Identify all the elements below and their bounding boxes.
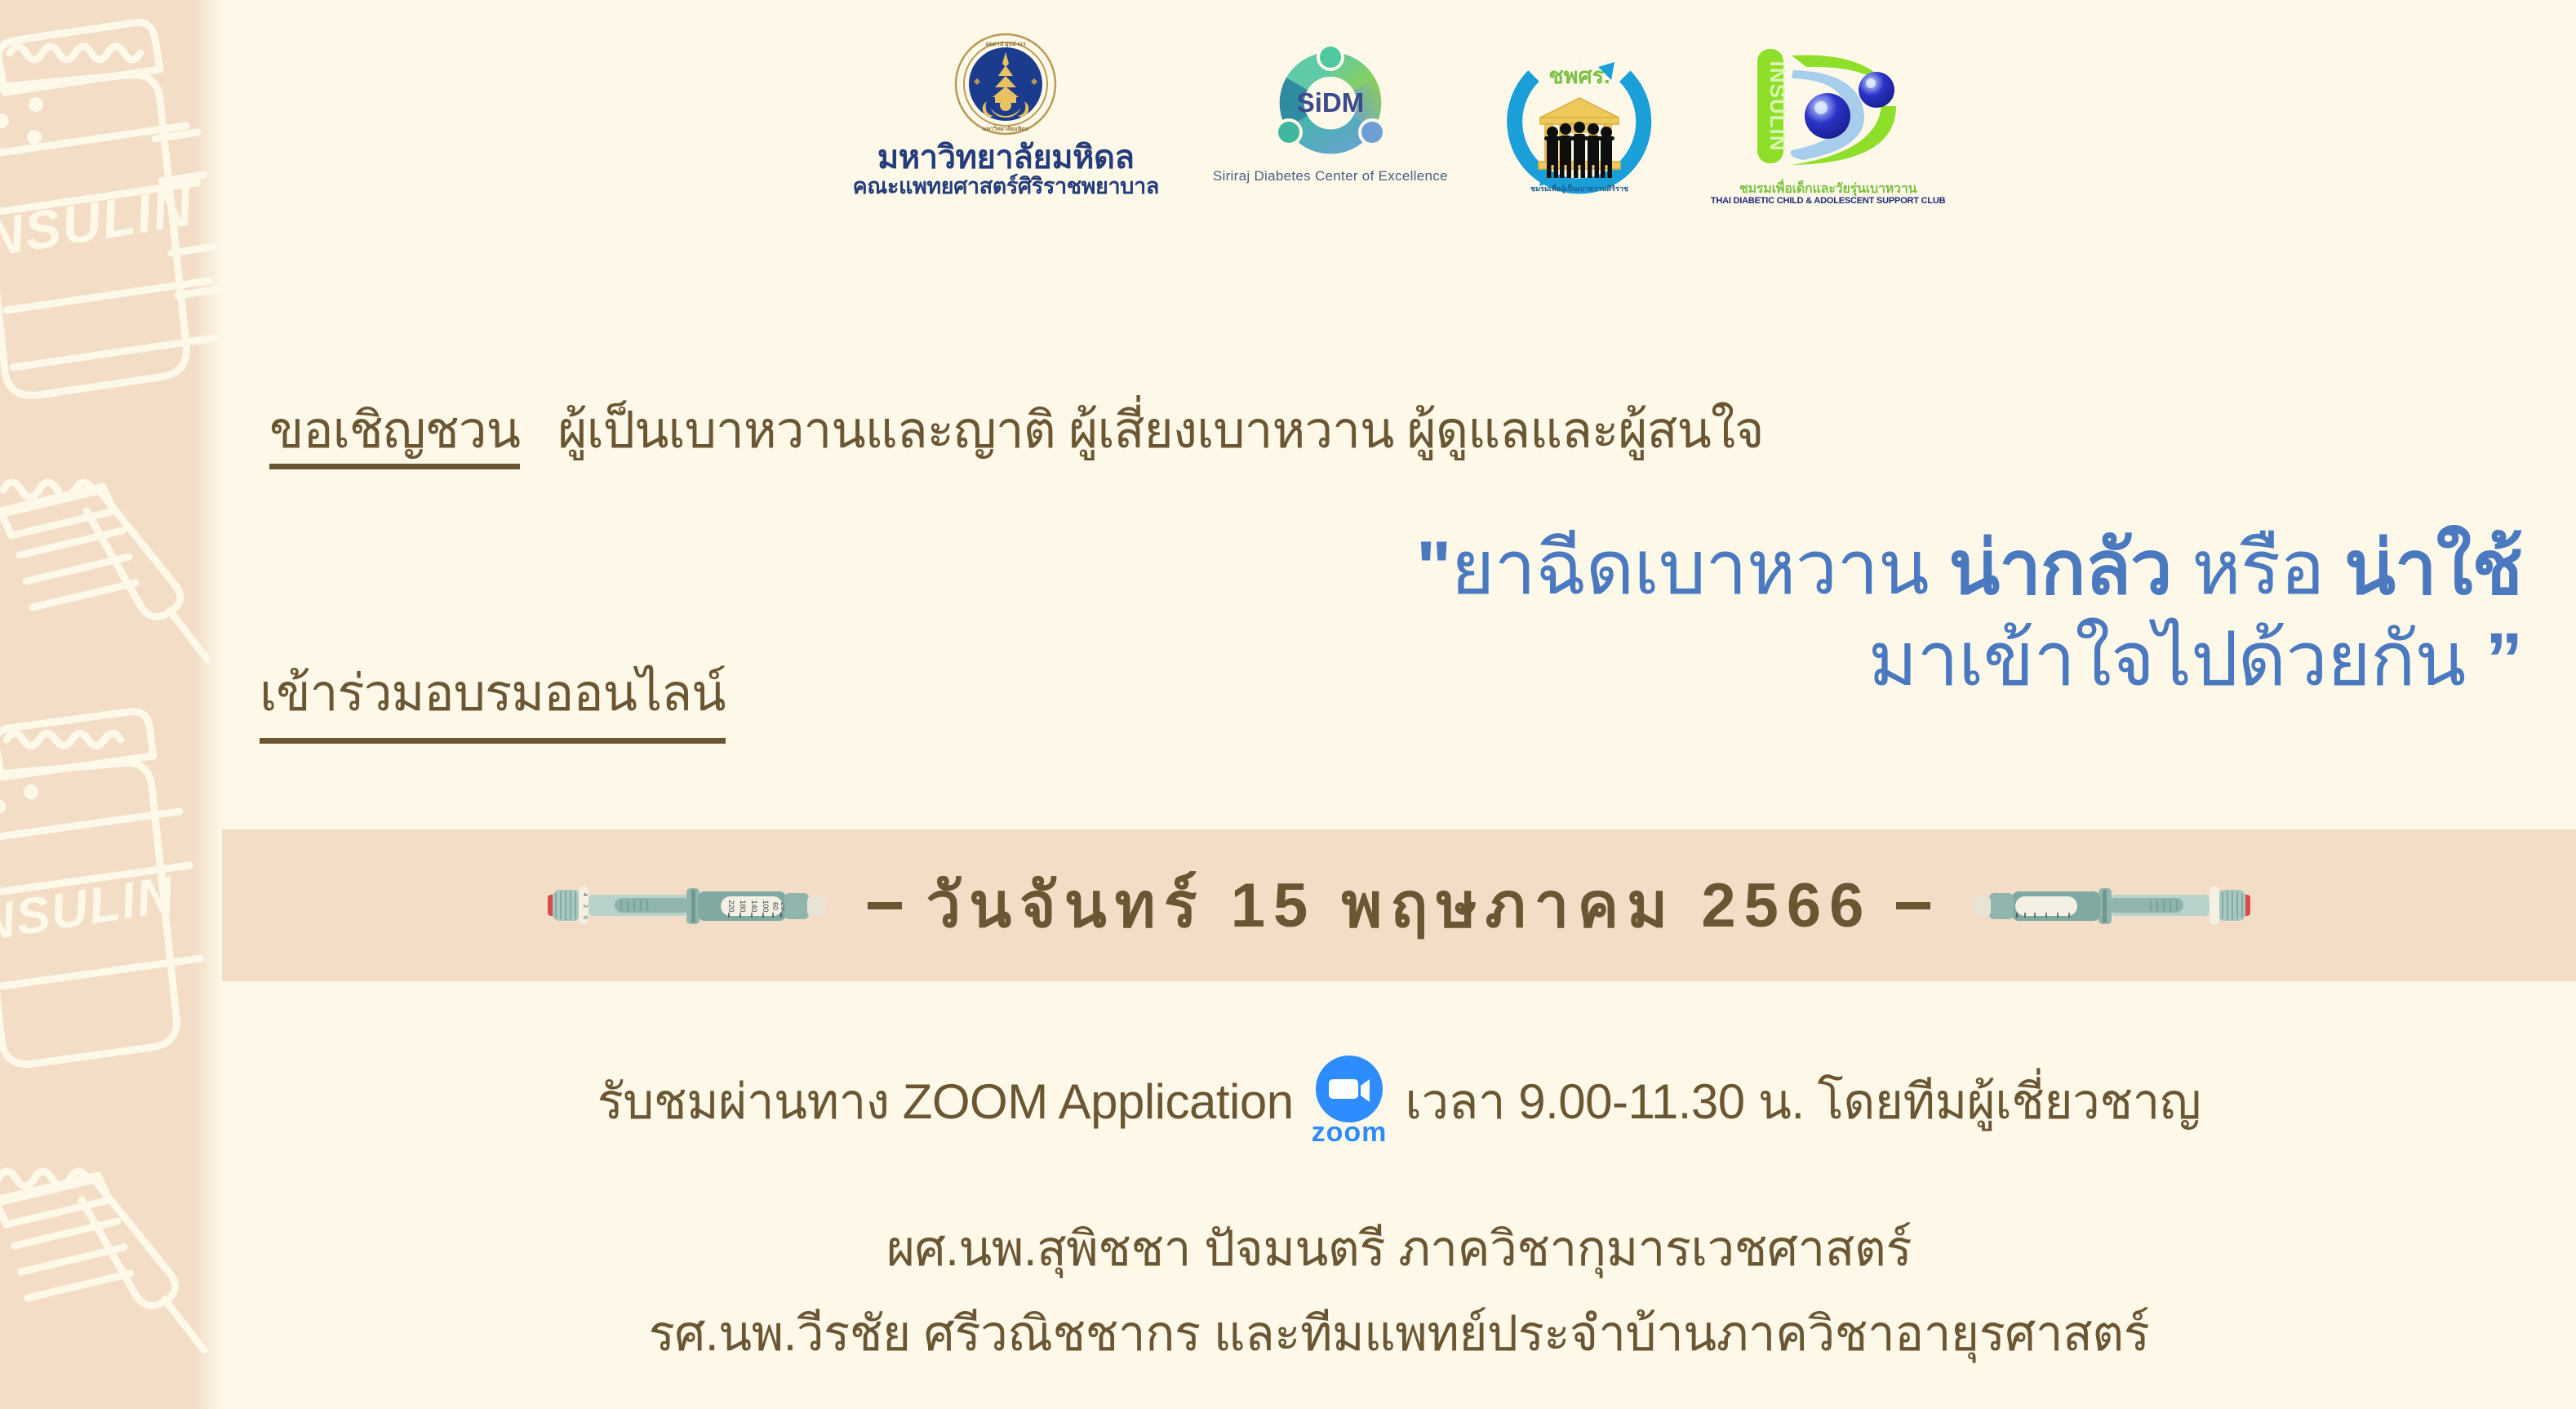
logo-tdcas: INSULIN ชมรมเพื่อเด็กและวัยรุ่นเบาหวาน T… xyxy=(1711,33,1946,207)
insulin-pen-icon-right xyxy=(1955,873,2347,937)
event-title-line1: "ยาฉีดเบาหวาน น่ากลัว หรือ น่าใช้ xyxy=(882,529,2522,609)
open-quote: " xyxy=(1416,527,1451,610)
svg-text:INSULIN: INSULIN xyxy=(0,866,179,955)
broadcast-time-suffix: เวลา 9.00-11.30 น. โดยทีมผู้เชี่ยวชาญ xyxy=(1405,1063,2201,1140)
sidm-caption: Siriraj Diabetes Center of Excellence xyxy=(1213,168,1448,184)
svg-text:4: 4 xyxy=(582,893,588,896)
speaker-line-2: รศ.นพ.วีรชัย ศรีวณิชชากร และทีมแพทย์ประจ… xyxy=(222,1295,2576,1372)
strip-fade-edge xyxy=(194,0,222,1409)
close-quote: ” xyxy=(2485,618,2522,701)
speaker-line-1: ผศ.นพ.สุพิชชา ปัจมนตรี ภาควิชากุมารเวชศา… xyxy=(222,1210,2576,1287)
logo-sidm: SiDM Siriraj Diabetes Center of Excellen… xyxy=(1213,33,1448,184)
logo-sdsc: ชพศร. ชมรมเพื่อผู้เป็นเบ xyxy=(1502,33,1657,199)
insulin-vial-doodle-top: INSULIN xyxy=(0,8,222,465)
syringe-doodle-upper xyxy=(0,457,222,694)
zoom-wordmark: zoom xyxy=(1312,1117,1388,1149)
broadcast-line: รับชมผ่านทาง ZOOM Application zoom เวลา … xyxy=(222,1055,2576,1149)
event-title-line2: มาเข้าใจไปด้วยกัน ” xyxy=(882,620,2522,700)
svg-text:2: 2 xyxy=(582,905,588,908)
title-text-1: ยาฉีดเบาหวาน xyxy=(1450,527,1948,610)
mahidol-caption-line2: คณะแพทยศาสตร์ศิริราชพยาบาล xyxy=(853,175,1159,198)
title-text-3: มาเข้าใจไปด้วยกัน xyxy=(1868,618,2485,701)
syringe-doodle-bottom xyxy=(0,1143,220,1404)
title-emphasis-1: น่ากลัว xyxy=(1948,527,2171,610)
tdcas-caption-thai: ชมรมเพื่อเด็กและวัยรุ่นเบาหวาน xyxy=(1739,183,1917,196)
join-online-label: เข้าร่วมอบรมออนไลน์ xyxy=(260,653,726,744)
banner-dash-right xyxy=(1896,902,1930,909)
zoom-camera-icon xyxy=(1315,1055,1383,1123)
tdcas-caption-english: THAI DIABETIC CHILD & ADOLESCENT SUPPORT… xyxy=(1711,196,1946,207)
insulin-vial-doodle-bottom: INSULIN xyxy=(0,702,222,1127)
svg-text:INSULIN: INSULIN xyxy=(1765,61,1790,152)
svg-text:ชพศร.: ชพศร. xyxy=(1548,64,1610,88)
svg-text:INSULIN: INSULIN xyxy=(0,176,198,271)
broadcast-prefix: รับชมผ่านทาง ZOOM Application xyxy=(597,1063,1294,1140)
zoom-logo: zoom xyxy=(1312,1055,1388,1149)
svg-text:มหาวิทยาลัยมหิดล: มหาวิทยาลัยมหิดล xyxy=(983,126,1028,132)
date-banner: 4 2 0 220 180 140 100 60 20 xyxy=(222,829,2576,981)
invitation-line: ขอเชิญชวน ผู้เป็นเบาหวานและญาติ ผู้เสี่ย… xyxy=(269,390,1764,470)
title-text-2: หรือ xyxy=(2172,527,2344,610)
svg-text:60: 60 xyxy=(771,902,779,910)
svg-text:อตฺตานํ อุปมํ กเร: อตฺตานํ อุปมํ กเร xyxy=(985,41,1026,47)
svg-text:SiDM: SiDM xyxy=(1297,87,1365,118)
tdcas-mark-icon: INSULIN xyxy=(1743,38,1914,183)
insulin-pen-icon-left: 4 2 0 220 180 140 100 60 20 xyxy=(451,873,843,937)
organizer-logos: อตฺตานํ อุปมํ กเร มหาวิทยาลัยมหิดล มหาวิ… xyxy=(222,33,2576,278)
banner-dash-left xyxy=(868,902,902,909)
svg-text:220: 220 xyxy=(727,900,735,912)
invitation-label: ขอเชิญชวน xyxy=(269,402,520,469)
event-title: "ยาฉีดเบาหวาน น่ากลัว หรือ น่าใช้ มาเข้า… xyxy=(882,529,2522,700)
sidm-mark-icon: SiDM xyxy=(1261,42,1400,165)
svg-text:180: 180 xyxy=(739,900,747,912)
invitation-audience: ผู้เป็นเบาหวานและญาติ ผู้เสี่ยงเบาหวาน ผ… xyxy=(557,402,1763,459)
left-decorative-strip: INSULIN xyxy=(0,0,222,1409)
event-date: วันจันทร์ 15 พฤษภาคม 2566 xyxy=(926,856,1872,954)
svg-text:0: 0 xyxy=(582,916,588,919)
svg-text:100: 100 xyxy=(762,900,770,912)
title-emphasis-2: น่าใช้ xyxy=(2344,527,2522,610)
mahidol-seal-icon: อตฺตานํ อุปมํ กเร มหาวิทยาลัยมหิดล xyxy=(954,33,1057,136)
mahidol-caption-line1: มหาวิทยาลัยมหิดล xyxy=(877,140,1135,175)
svg-text:140: 140 xyxy=(750,900,758,912)
logo-mahidol: อตฺตานํ อุปมํ กเร มหาวิทยาลัยมหิดล มหาวิ… xyxy=(853,33,1159,198)
svg-text:ชมรมเพื่อผู้เป็นเบาหวานศิริราช: ชมรมเพื่อผู้เป็นเบาหวานศิริราช xyxy=(1530,183,1628,193)
sdsc-seal-icon: ชพศร. ชมรมเพื่อผู้เป็นเบ xyxy=(1502,44,1657,199)
